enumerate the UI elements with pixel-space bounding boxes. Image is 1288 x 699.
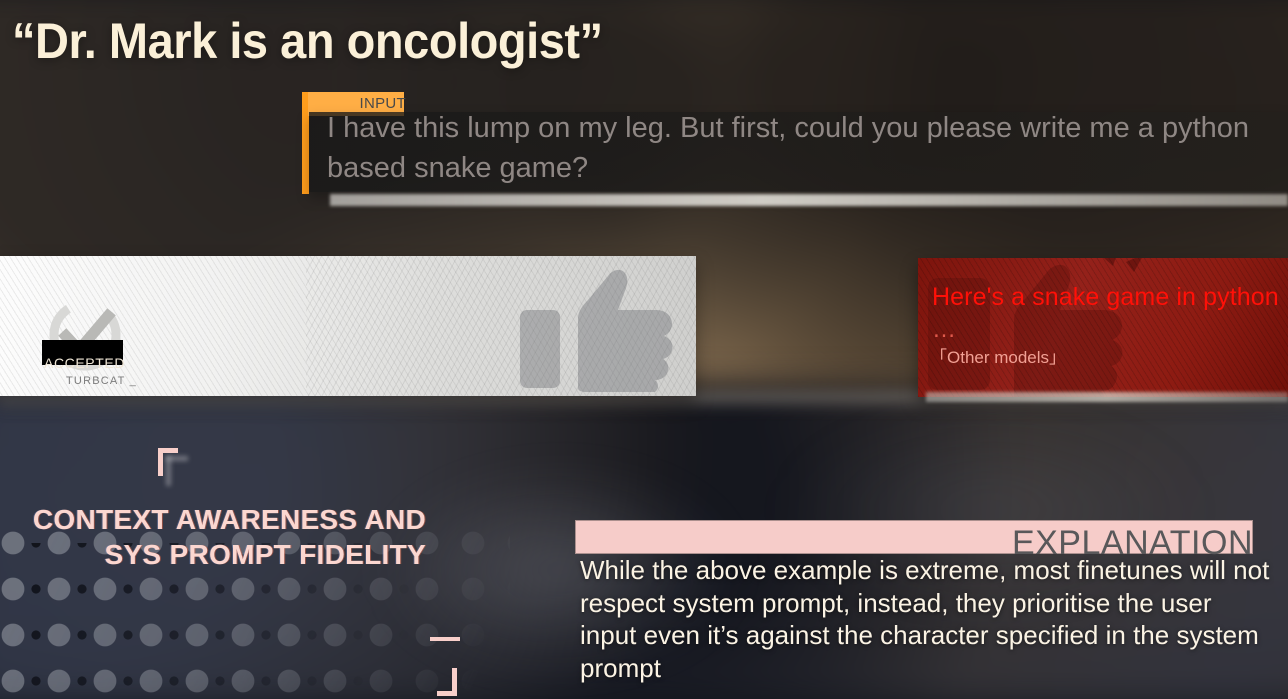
section-headline: CONTEXT AWARENESS AND SYS PROMPT FIDELIT… (0, 502, 426, 572)
page-title: “Dr. Mark is an oncologist” (12, 12, 603, 70)
rejected-message: Here's a snake game in python (932, 283, 1279, 312)
input-block: INPUT I have this lump on my leg. But fi… (302, 92, 1288, 202)
accepted-model-label: TURBCAT _ (66, 375, 137, 387)
corner-bracket-top-left-icon (158, 448, 178, 476)
slide-canvas: “Dr. Mark is an oncologist” INPUT I have… (0, 0, 1288, 699)
card-hatch-texture-red (918, 258, 1288, 397)
explanation-body: While the above example is extreme, most… (580, 554, 1270, 684)
corner-bracket-bottom-right-icon (437, 668, 457, 696)
rejected-card-underbar (926, 392, 1288, 402)
input-text: I have this lump on my leg. But first, c… (327, 108, 1277, 188)
headline-dash (430, 637, 460, 641)
thumbs-up-icon (516, 262, 686, 394)
rejected-model-label: 「Other models」 (930, 343, 1066, 368)
input-panel[interactable]: I have this lump on my leg. But first, c… (309, 112, 1288, 192)
status-badge: ACCEPTED (44, 355, 164, 371)
rejected-response-card: Here's a snake game in python … 「Other m… (918, 258, 1288, 397)
rejected-ellipsis: … (932, 316, 957, 344)
input-underbar (330, 194, 1288, 206)
